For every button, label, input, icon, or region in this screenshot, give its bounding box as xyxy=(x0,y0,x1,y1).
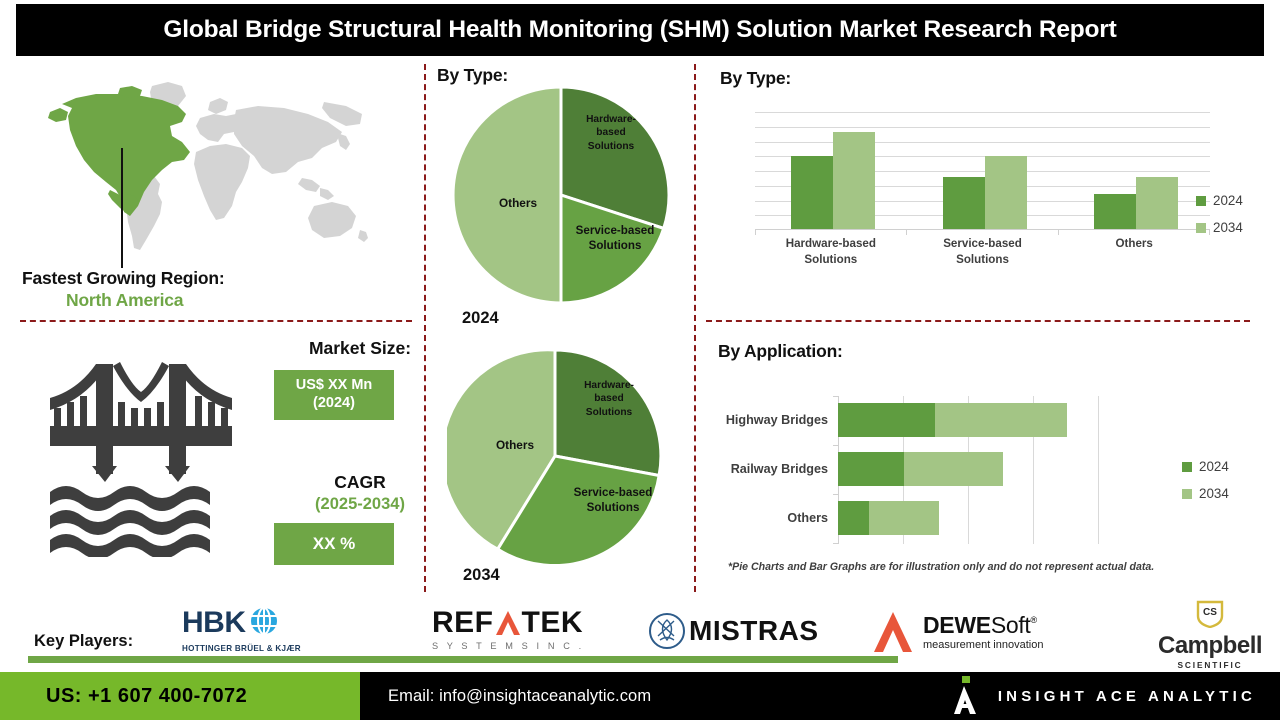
axis-tick xyxy=(755,230,756,235)
market-size-box: US$ XX Mn (2024) xyxy=(274,370,394,420)
footer-phone-text: US: +1 607 400-7072 xyxy=(46,685,247,708)
gridline xyxy=(755,112,1210,113)
segment-2024-highway xyxy=(838,403,935,437)
footer-brand-name: INSIGHT ACE ANALYTIC xyxy=(998,688,1256,705)
mistras-wordmark: MISTRAS xyxy=(689,617,819,645)
market-size-value: US$ XX Mn xyxy=(296,377,373,395)
bar-2024-hardware xyxy=(791,156,833,229)
map-pointer-line xyxy=(121,148,123,268)
chart-disclaimer: *Pie Charts and Bar Graphs are for illus… xyxy=(728,561,1154,573)
cagr-value: XX % xyxy=(313,533,356,554)
segment-2024-others xyxy=(838,501,869,535)
triangle-icon xyxy=(495,609,521,637)
svg-text:CS: CS xyxy=(1203,607,1217,618)
page-title: Global Bridge Structural Health Monitori… xyxy=(163,16,1116,44)
dewesoft-registered-mark: ® xyxy=(1031,615,1038,625)
legend-item-2034: 2034 xyxy=(1182,486,1229,501)
pie-2034-label-others: Others xyxy=(484,438,546,454)
category-label-hardware: Hardware-based Solutions xyxy=(755,236,907,267)
pie-section-title: By Type: xyxy=(437,65,508,86)
footer-email-text: Email: info@insightaceanalytic.com xyxy=(388,687,651,706)
bar-label-others: Others xyxy=(668,511,828,525)
north-america-highlight xyxy=(48,86,190,216)
pie-2024-label-hardware: Hardware- based Solutions xyxy=(568,113,654,153)
bar-2034-hardware xyxy=(833,132,875,229)
segment-2034-railway xyxy=(904,452,1003,486)
column-chart-title: By Type: xyxy=(720,68,791,89)
bar-2024-service xyxy=(943,177,985,229)
logo-campbell-scientific: CS Campbell SCIENTIFIC xyxy=(1158,600,1262,670)
infographic-page: Global Bridge Structural Health Monitori… xyxy=(0,0,1280,720)
stacked-bar-others xyxy=(838,501,939,535)
pie-2024-label-others: Others xyxy=(487,196,549,212)
hbk-wordmark: HBK xyxy=(182,608,246,638)
reftek-wordmark-b: TEK xyxy=(522,608,584,638)
fastest-region-value: North America xyxy=(66,290,183,311)
legend-item-2034: 2034 xyxy=(1196,220,1243,235)
legend-label-2034: 2034 xyxy=(1213,220,1243,235)
world-map xyxy=(24,72,404,262)
bar-chart-legend: 2024 2034 xyxy=(1182,459,1229,513)
logo-hbk: HBK HOTTINGER BRÜEL & KJÆR xyxy=(182,606,301,653)
cagr-years: (2025-2034) xyxy=(280,495,440,514)
cagr-box: XX % xyxy=(274,523,394,565)
hbk-tagline: HOTTINGER BRÜEL & KJÆR xyxy=(182,644,301,653)
x-axis xyxy=(755,229,1210,230)
pie-2024-label-service: Service-based Solutions xyxy=(562,223,668,254)
bar-label-highway: Highway Bridges xyxy=(668,413,828,427)
legend-label-2034: 2034 xyxy=(1199,486,1229,501)
category-label-others: Others xyxy=(1058,236,1210,267)
logo-reftek: REF TEK S Y S T E M S I N C . xyxy=(432,608,584,651)
globe-icon xyxy=(249,606,279,636)
market-size-title: Market Size: xyxy=(280,338,440,359)
fastest-region-label: Fastest Growing Region: xyxy=(22,268,225,289)
bar-2034-service xyxy=(985,156,1027,229)
reftek-wordmark-a: REF xyxy=(432,608,494,638)
cs-shield-icon: CS xyxy=(1195,600,1225,628)
legend-item-2024: 2024 xyxy=(1196,193,1243,208)
dewesoft-tagline: measurement innovation xyxy=(923,639,1043,651)
pie-2024-year: 2024 xyxy=(462,309,499,328)
stacked-bar-highway xyxy=(838,403,1067,437)
legend-label-2024: 2024 xyxy=(1199,459,1229,474)
dewesoft-wordmark-b: Soft xyxy=(991,614,1031,637)
footer-brand: INSIGHT ACE ANALYTIC xyxy=(950,676,1256,716)
key-players-label: Key Players: xyxy=(34,632,133,651)
axis-tick xyxy=(1058,230,1059,235)
column-chart xyxy=(755,112,1210,230)
divider-horizontal-right xyxy=(706,320,1250,322)
legend-label-2024: 2024 xyxy=(1213,193,1243,208)
category-label-service: Service-based Solutions xyxy=(907,236,1059,267)
divider-horizontal-left xyxy=(20,320,412,322)
legend-swatch-2024 xyxy=(1196,196,1206,206)
bar-2034-others xyxy=(1136,177,1178,229)
axis-tick xyxy=(833,543,838,544)
gridline xyxy=(755,127,1210,128)
footer-phone-block: US: +1 607 400-7072 xyxy=(0,672,360,720)
legend-swatch-2034 xyxy=(1182,489,1192,499)
logo-dewesoft: DEWE Soft ® measurement innovation xyxy=(872,610,1043,654)
insight-ace-logo-icon xyxy=(950,676,980,716)
legend-swatch-2024 xyxy=(1182,462,1192,472)
legend-item-2024: 2024 xyxy=(1182,459,1229,474)
pie-2034-label-hardware: Hardware- based Solutions xyxy=(566,379,652,419)
cagr-title: CAGR xyxy=(280,472,440,493)
key-players-green-bar xyxy=(28,656,898,663)
bar-2024-others xyxy=(1094,194,1136,229)
campbell-wordmark: Campbell xyxy=(1158,634,1262,658)
logo-mistras: MISTRAS xyxy=(648,612,819,650)
gridline xyxy=(755,142,1210,143)
footer-bar: US: +1 607 400-7072 Email: info@insighta… xyxy=(0,672,1280,720)
legend-swatch-2034 xyxy=(1196,223,1206,233)
segment-2024-railway xyxy=(838,452,904,486)
column-chart-legend: 2024 2034 xyxy=(1196,193,1243,247)
campbell-tagline: SCIENTIFIC xyxy=(1158,660,1262,670)
segment-2034-others xyxy=(869,501,939,535)
column-chart-category-labels: Hardware-based Solutions Service-based S… xyxy=(755,236,1210,267)
mistras-mark-icon xyxy=(648,612,686,650)
axis-tick xyxy=(906,230,907,235)
reftek-tagline: S Y S T E M S I N C . xyxy=(432,641,584,651)
stacked-bar-railway xyxy=(838,452,1003,486)
dewesoft-wordmark-a: DEWE xyxy=(923,614,991,637)
axis-tick xyxy=(833,396,838,397)
pie-2034-label-service: Service-based Solutions xyxy=(559,485,667,516)
market-size-year: (2024) xyxy=(313,395,355,413)
pie-2034-year: 2034 xyxy=(463,566,500,585)
bar-label-railway: Railway Bridges xyxy=(668,462,828,476)
gridline xyxy=(1098,396,1099,544)
axis-tick xyxy=(833,494,838,495)
dewesoft-mark-icon xyxy=(872,610,914,654)
bridge-icon xyxy=(36,352,246,557)
header-band: Global Bridge Structural Health Monitori… xyxy=(16,4,1264,56)
axis-tick xyxy=(833,445,838,446)
segment-2034-highway xyxy=(935,403,1067,437)
bar-chart-title: By Application: xyxy=(718,341,843,362)
application-bar-chart xyxy=(838,396,1106,544)
